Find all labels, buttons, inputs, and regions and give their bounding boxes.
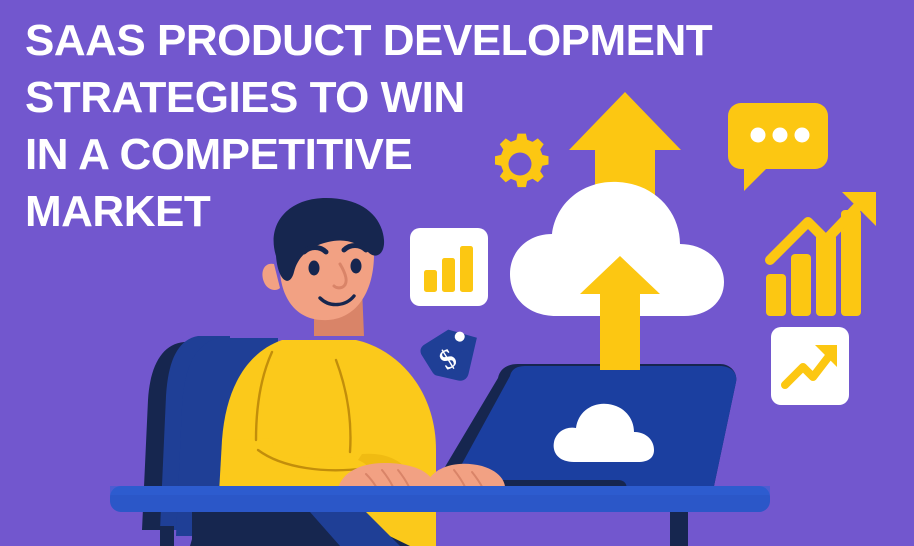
- growth-bar-chart-icon: [764, 192, 890, 322]
- chat-bubble-icon: [728, 103, 832, 193]
- bar-chart-card-icon: [410, 228, 488, 306]
- gear-icon: [487, 131, 553, 197]
- desk: [110, 486, 770, 546]
- price-tag-icon: $: [419, 322, 493, 396]
- trend-arrow-card-icon: [771, 327, 849, 405]
- title-line-1: SAAS PRODUCT DEVELOPMENT: [25, 12, 625, 69]
- developer-character-head: [248, 196, 400, 346]
- banner-graphic: $: [0, 0, 914, 546]
